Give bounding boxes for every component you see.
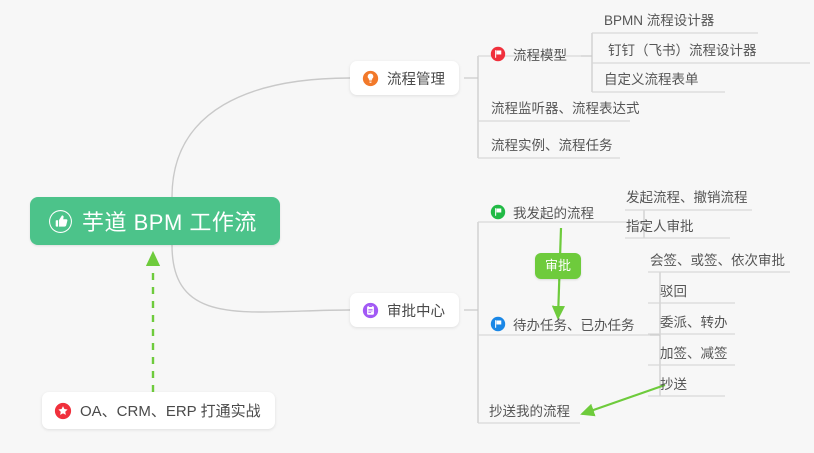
node-cc-label: 抄送 <box>660 377 687 393</box>
node-custom-process-form-label: 自定义流程表单 <box>604 72 699 88</box>
branch-approval-center-label: 审批中心 <box>387 300 445 321</box>
node-dingtalk-designer[interactable]: 钉钉（飞书）流程设计器 <box>608 43 757 64</box>
root-node[interactable]: 芋道 BPM 工作流 <box>30 197 280 245</box>
node-add-remove-sign[interactable]: 加签、减签 <box>660 346 728 367</box>
node-todo-done-tasks[interactable]: 待办任务、已办任务 <box>490 314 635 339</box>
flag-icon <box>490 204 506 220</box>
node-process-model-label: 流程模型 <box>513 44 567 64</box>
node-cc-to-me-label: 抄送我的流程 <box>489 404 570 420</box>
node-instance-task[interactable]: 流程实例、流程任务 <box>491 138 613 159</box>
node-listener-expression-label: 流程监听器、流程表达式 <box>491 101 640 117</box>
annotation-approval-badge-label: 审批 <box>545 258 571 273</box>
node-add-remove-sign-label: 加签、减签 <box>660 346 728 362</box>
node-delegate-transfer-label: 委派、转办 <box>660 315 728 331</box>
node-process-model[interactable]: 流程模型 <box>490 44 567 69</box>
node-start-cancel[interactable]: 发起流程、撤销流程 <box>626 190 748 211</box>
edge-root-to-approval-center <box>172 245 350 312</box>
edge-root-to-process-management <box>172 78 350 197</box>
root-label: 芋道 BPM 工作流 <box>82 205 257 237</box>
node-dingtalk-designer-label: 钉钉（飞书）流程设计器 <box>608 43 757 59</box>
annotation-approval-badge: 审批 <box>535 253 581 279</box>
flag-icon <box>490 46 506 62</box>
node-my-initiated[interactable]: 我发起的流程 <box>490 202 594 227</box>
node-todo-done-tasks-label: 待办任务、已办任务 <box>513 314 635 334</box>
arrow-cc-to-myflow <box>582 385 665 414</box>
branch-approval-center[interactable]: 审批中心 <box>350 293 459 327</box>
mindmap-canvas: 芋道 BPM 工作流 流程管理 流程模型 BPMN 流程设计器 钉钉（飞书）流程 <box>0 0 814 453</box>
node-delegate-transfer[interactable]: 委派、转办 <box>660 315 728 336</box>
node-bpmn-designer-label: BPMN 流程设计器 <box>604 13 714 29</box>
node-reject[interactable]: 驳回 <box>660 284 687 305</box>
node-cc[interactable]: 抄送 <box>660 377 687 398</box>
node-countersign-label: 会签、或签、依次审批 <box>650 253 785 269</box>
node-assignee-approval-label: 指定人审批 <box>626 219 694 235</box>
branch-process-management-label: 流程管理 <box>387 68 445 89</box>
node-bpmn-designer[interactable]: BPMN 流程设计器 <box>604 13 714 34</box>
node-countersign[interactable]: 会签、或签、依次审批 <box>650 253 785 274</box>
footnote-label: OA、CRM、ERP 打通实战 <box>80 400 261 421</box>
thumbs-up-icon <box>48 209 73 234</box>
node-start-cancel-label: 发起流程、撤销流程 <box>626 190 748 206</box>
node-instance-task-label: 流程实例、流程任务 <box>491 138 613 154</box>
node-custom-process-form[interactable]: 自定义流程表单 <box>604 72 699 93</box>
node-cc-to-me[interactable]: 抄送我的流程 <box>489 404 570 425</box>
branch-process-management[interactable]: 流程管理 <box>350 61 459 95</box>
star-icon <box>54 402 72 420</box>
node-assignee-approval[interactable]: 指定人审批 <box>626 219 694 240</box>
node-reject-label: 驳回 <box>660 284 687 300</box>
flag-icon <box>490 316 506 332</box>
node-my-initiated-label: 我发起的流程 <box>513 202 594 222</box>
lightbulb-icon <box>362 70 379 87</box>
node-listener-expression[interactable]: 流程监听器、流程表达式 <box>491 101 640 122</box>
clipboard-icon <box>362 302 379 319</box>
footnote-node[interactable]: OA、CRM、ERP 打通实战 <box>42 392 275 429</box>
